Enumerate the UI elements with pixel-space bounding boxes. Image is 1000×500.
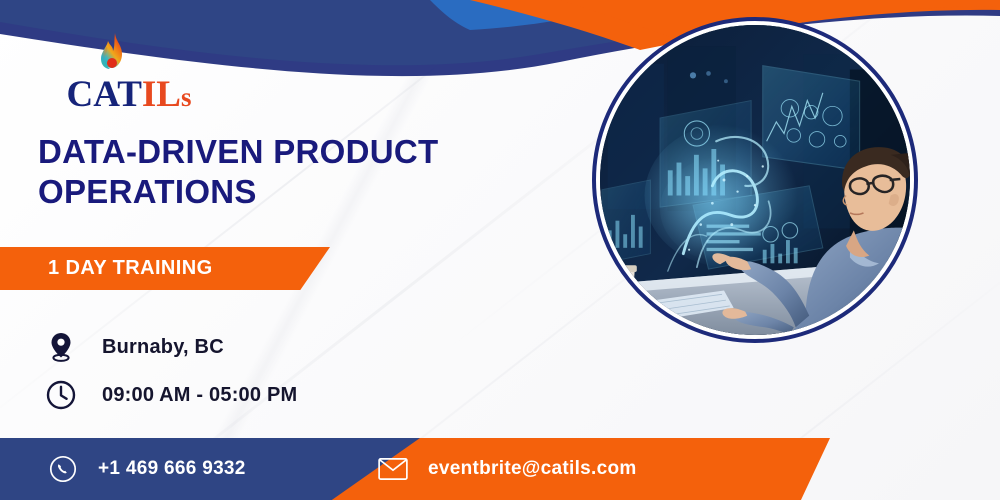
- footer-contact-bar: +1 469 666 9332 eventbrite@catils.com: [0, 438, 1000, 500]
- circular-photo: [600, 25, 910, 335]
- logo-text-cat: CAT: [67, 74, 142, 115]
- logo-text-s: s: [181, 82, 192, 112]
- page-title: DATA-DRIVEN PRODUCT OPERATIONS: [38, 132, 558, 213]
- logo: CATILs: [34, 32, 224, 116]
- event-banner: CATILs DATA-DRIVEN PRODUCT OPERATIONS 1 …: [0, 0, 1000, 500]
- hero-photo-clip: [600, 25, 910, 335]
- phone-text: +1 469 666 9332: [98, 458, 246, 480]
- flame-icon: [92, 32, 132, 80]
- phone-icon: [48, 454, 78, 484]
- footer-phone[interactable]: +1 469 666 9332: [48, 438, 246, 500]
- location-text: Burnaby, BC: [102, 336, 224, 359]
- hero-photo: [592, 17, 918, 343]
- training-duration-ribbon: 1 DAY TRAINING: [0, 247, 330, 290]
- logo-wordmark: CATILs: [34, 76, 224, 113]
- footer-email[interactable]: eventbrite@catils.com: [378, 438, 637, 500]
- logo-text-il: IL: [142, 74, 181, 115]
- time-text: 09:00 AM - 05:00 PM: [102, 384, 297, 407]
- location-pin-icon: [44, 330, 78, 364]
- detail-row-location: Burnaby, BC: [44, 330, 224, 364]
- detail-row-time: 09:00 AM - 05:00 PM: [44, 378, 297, 412]
- envelope-icon: [378, 454, 408, 484]
- ribbon-label: 1 DAY TRAINING: [48, 257, 213, 280]
- email-text: eventbrite@catils.com: [428, 458, 637, 480]
- clock-icon: [44, 378, 78, 412]
